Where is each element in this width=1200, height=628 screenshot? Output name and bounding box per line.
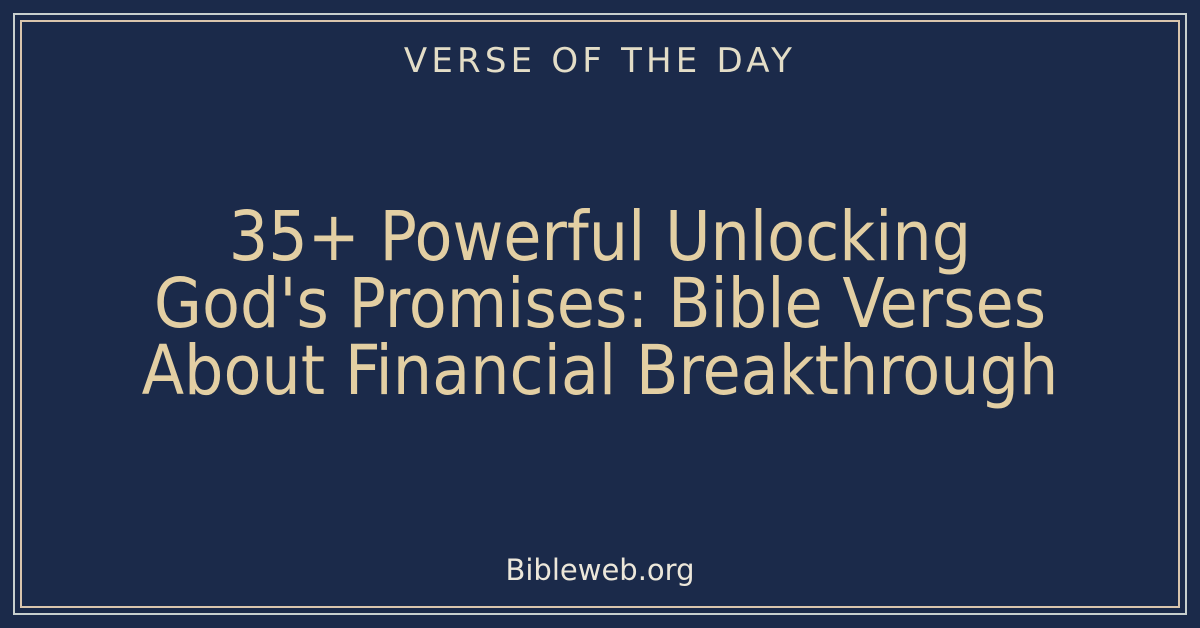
page-title-line-3: About Financial Breakthrough	[0, 338, 1200, 405]
site-name-label: Bibleweb.org	[0, 556, 1200, 585]
page-title: 35+ Powerful Unlocking God's Promises: B…	[0, 204, 1200, 405]
page-title-line-1: 35+ Powerful Unlocking	[0, 204, 1200, 271]
verse-of-the-day-card: VERSE OF THE DAY 35+ Powerful Unlocking …	[0, 0, 1200, 628]
page-title-line-2: God's Promises: Bible Verses	[0, 271, 1200, 338]
card-content: VERSE OF THE DAY 35+ Powerful Unlocking …	[0, 0, 1200, 628]
kicker-label: VERSE OF THE DAY	[0, 44, 1200, 78]
